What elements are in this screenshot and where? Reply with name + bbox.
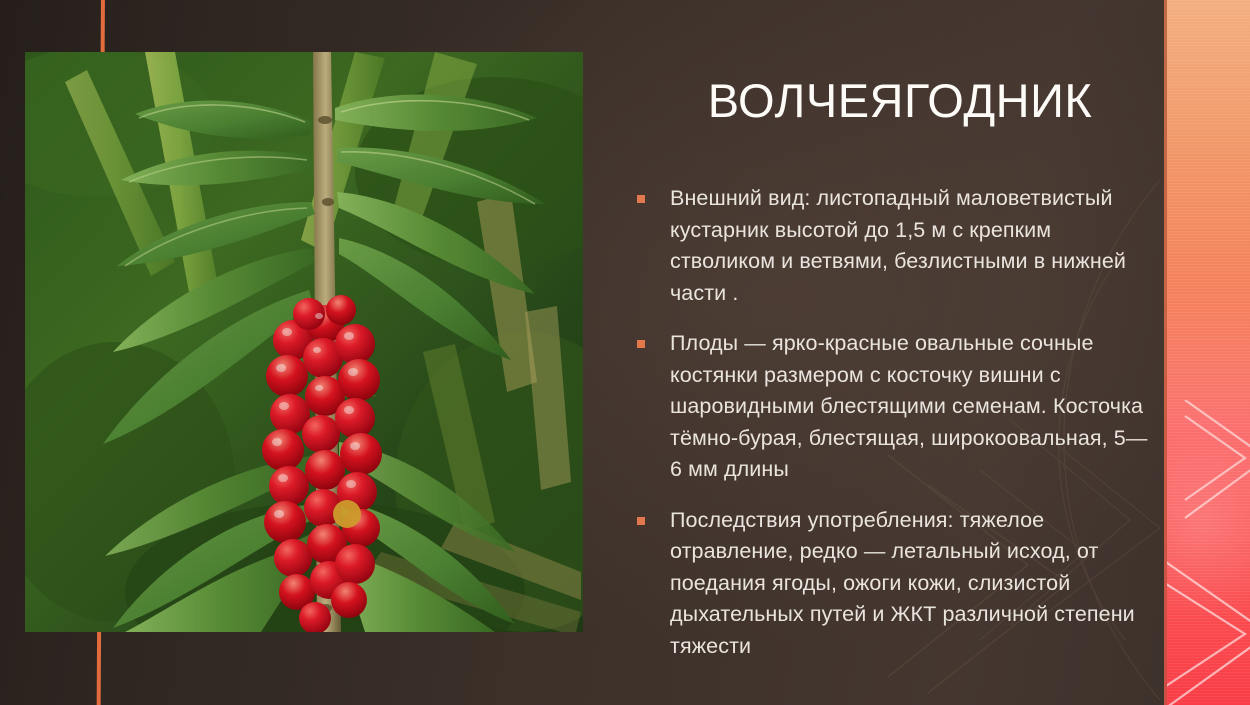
bullet-text-appearance: Внешний вид: листопадный маловетвистый к…: [670, 183, 1152, 309]
slide-title: ВОЛЧЕЯГОДНИК: [620, 74, 1180, 128]
square-bullet-icon: [637, 517, 645, 525]
daphne-mezereum-photo: [25, 52, 583, 632]
list-item: Плоды — ярко-красные овальные сочные кос…: [632, 328, 1152, 486]
bullet-list: Внешний вид: листопадный маловетвистый к…: [632, 183, 1152, 681]
bullet-text-fruit: Плоды — ярко-красные овальные сочные кос…: [670, 328, 1152, 486]
list-item: Последствия употребления: тяжелое отравл…: [632, 505, 1152, 663]
list-item: Внешний вид: листопадный маловетвистый к…: [632, 183, 1152, 309]
square-bullet-icon: [637, 340, 645, 348]
square-bullet-icon: [637, 195, 645, 203]
bullet-text-consequences: Последствия употребления: тяжелое отравл…: [670, 505, 1152, 663]
right-gradient-strip: [1167, 0, 1250, 705]
strip-glow: [1167, 430, 1250, 620]
presentation-slide: ВОЛЧЕЯГОДНИК Внешний вид: листопадный ма…: [0, 0, 1250, 705]
